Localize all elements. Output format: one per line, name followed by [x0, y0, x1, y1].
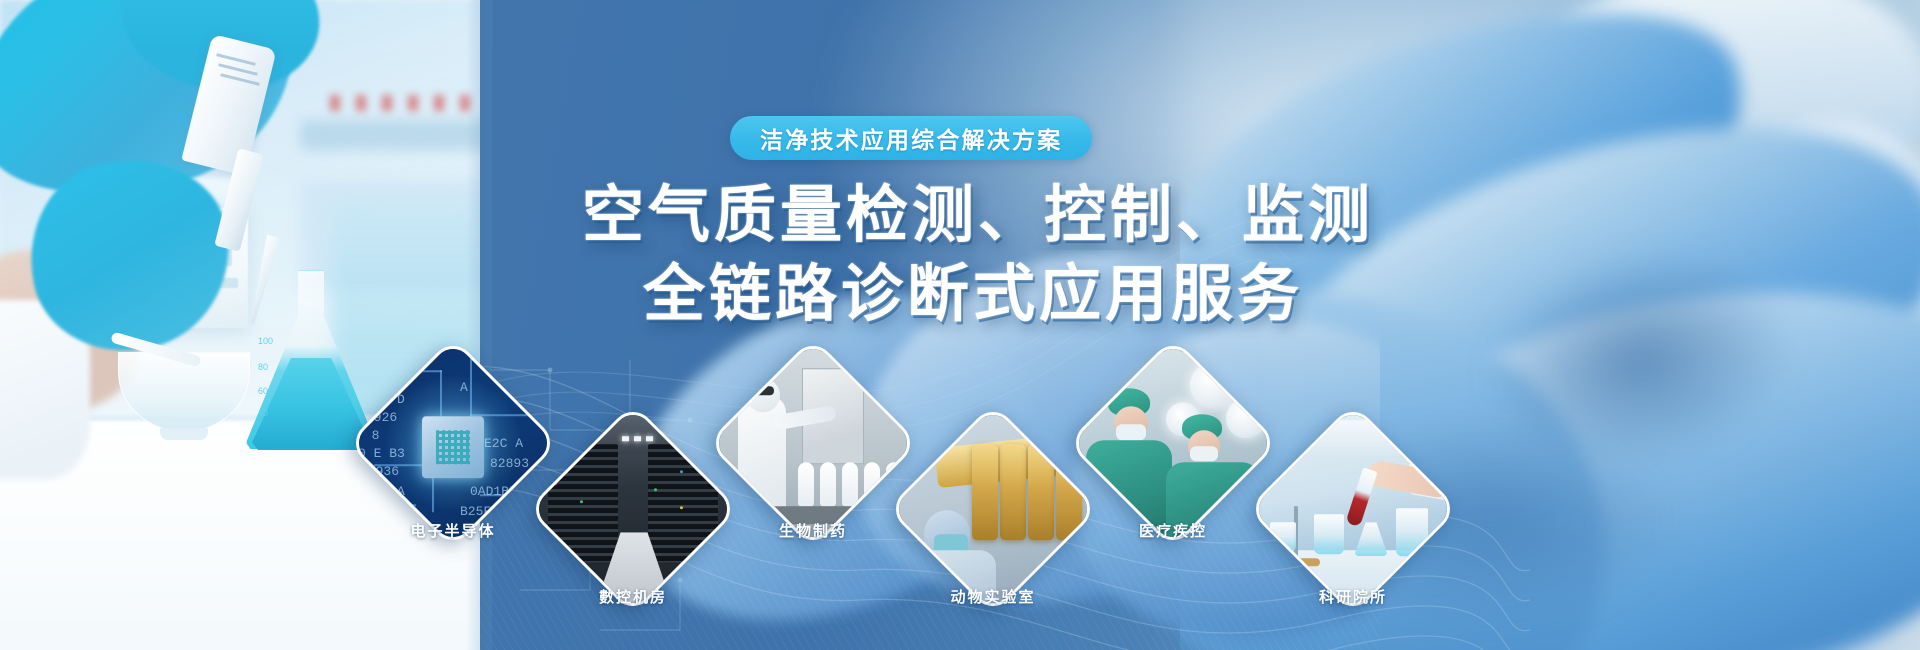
card-diamond	[707, 337, 919, 549]
card-label: 动物实验室	[873, 586, 1113, 607]
card-diamond	[887, 403, 1099, 615]
card-diamond: E2 F D 5926 7 8 0 E B3 7 936 B8 C A E2C …	[347, 337, 559, 549]
industry-card-datacenter[interactable]: 數控机房	[558, 434, 708, 584]
industry-card-biopharma[interactable]: 生物制药	[738, 368, 888, 518]
card-diamond	[1247, 403, 1459, 615]
card-label: 數控机房	[513, 586, 753, 607]
industry-card-animal-lab[interactable]: 动物实验室	[918, 434, 1068, 584]
promo-banner: 100 80 60 40 洁净技术应用综合解决方案 空气质量检测、控制、监测 全…	[0, 0, 1920, 650]
industry-card-research[interactable]: 科研院所	[1278, 434, 1428, 584]
animal-lab-icon	[890, 410, 1096, 615]
card-label: 电子半导体	[333, 520, 573, 541]
card-label: 科研院所	[1233, 586, 1473, 607]
industry-card-medical[interactable]: 医疗疾控	[1098, 368, 1248, 518]
industry-card-electronics[interactable]: E2 F D 5926 7 8 0 E B3 7 936 B8 C A E2C …	[378, 368, 528, 518]
card-diamond	[1067, 337, 1279, 549]
circuit-board-icon: E2 F D 5926 7 8 0 E B3 7 936 B8 C A E2C …	[350, 344, 556, 549]
medical-surgery-icon	[1070, 344, 1276, 549]
card-label: 医疗疾控	[1053, 520, 1293, 541]
card-diamond	[527, 403, 739, 615]
pharma-production-icon	[710, 344, 916, 549]
server-room-icon	[530, 410, 736, 615]
card-label: 生物制药	[693, 520, 933, 541]
research-lab-icon	[1250, 410, 1456, 615]
industry-card-row: E2 F D 5926 7 8 0 E B3 7 936 B8 C A E2C …	[0, 0, 1920, 650]
